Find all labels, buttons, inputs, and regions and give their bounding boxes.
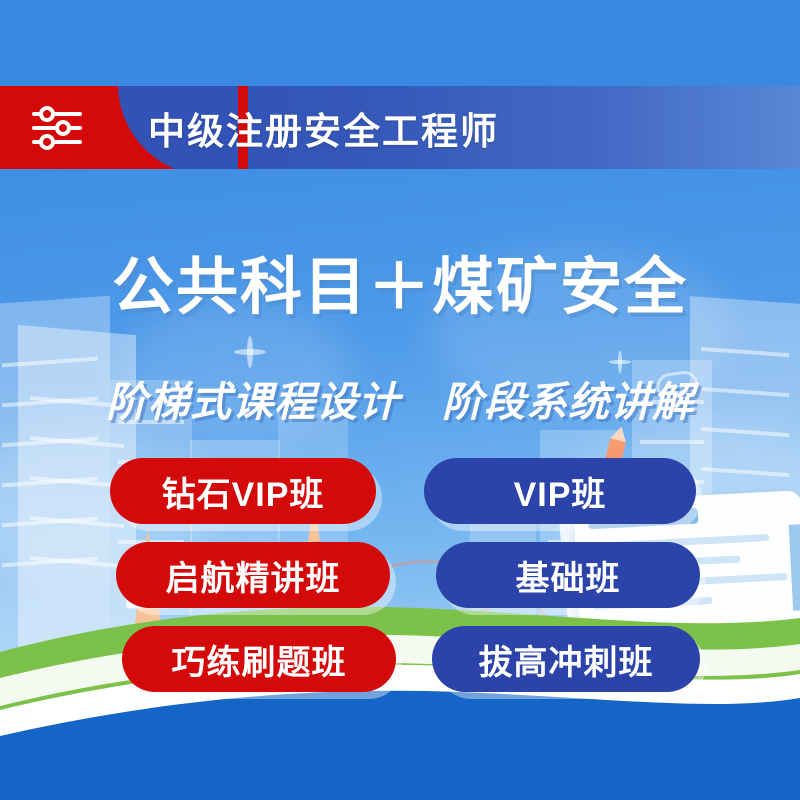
course-button-basic[interactable]: 基础班	[436, 542, 700, 608]
course-button-sprint[interactable]: 拔高冲刺班	[432, 626, 700, 692]
sliders-settings-icon	[30, 104, 84, 152]
page-title: 公共科目＋煤矿安全	[0, 236, 800, 326]
course-button-qihang[interactable]: 启航精讲班	[116, 542, 390, 608]
course-button-vip[interactable]: VIP班	[424, 458, 696, 524]
header-title: 中级注册安全工程师	[148, 101, 499, 155]
page-subtitle: 阶梯式课程设计 阶段系统讲解	[0, 368, 800, 428]
sky-top-band	[0, 0, 800, 86]
course-button-grid: 钻石VIP班 启航精讲班 巧练刷题班 VIP班 基础班 拔高冲刺班	[0, 452, 800, 702]
course-button-qiaolian[interactable]: 巧练刷题班	[122, 626, 396, 692]
course-promo-poster: 中级注册安全工程师 公共科目＋煤矿安全 阶梯式课程设计 阶段系统讲解 钻石VIP…	[0, 0, 800, 800]
header-bar: 中级注册安全工程师	[0, 86, 800, 169]
course-button-diamond-vip[interactable]: 钻石VIP班	[110, 458, 376, 524]
